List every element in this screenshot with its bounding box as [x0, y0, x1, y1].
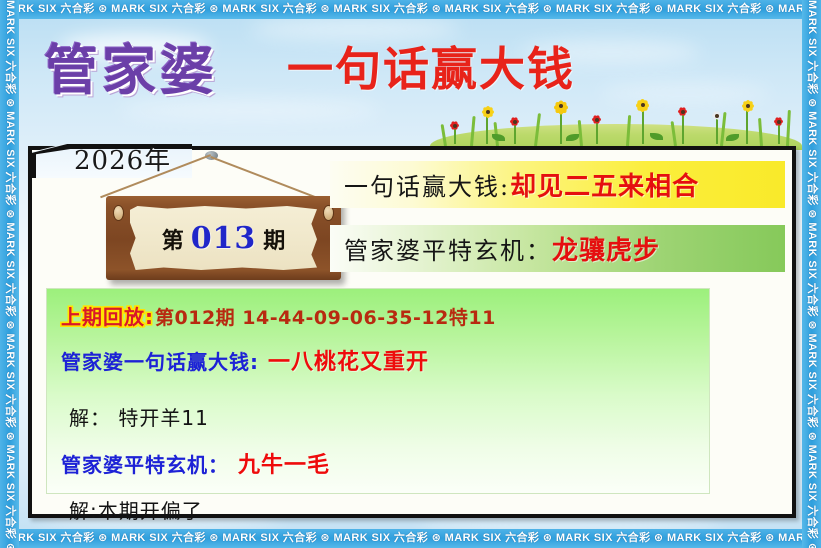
issue-prefix: 第: [162, 228, 184, 254]
explain-2-text: 解:本期开偏了: [69, 495, 203, 524]
banner-tip-secondary[interactable]: 管家婆平特玄机： 龙骧虎步: [330, 225, 785, 272]
result-row-tip: 管家婆一句话赢大钱: 一八桃花又重开: [61, 344, 709, 376]
issue-number: 第 013 期: [162, 221, 286, 256]
marquee-border-bottom: MARK SIX 六合彩 ⊛ MARK SIX 六合彩 ⊛ MARK SIX 六…: [0, 529, 821, 548]
page-title: 一句话赢大钱: [287, 33, 575, 99]
issue-suffix: 期: [263, 228, 285, 254]
banner-secondary-label: 管家婆平特玄机：: [344, 231, 552, 266]
banner-primary-label: 一句话赢大钱:: [344, 167, 510, 202]
banner-secondary-value: 龙骧虎步: [552, 230, 660, 267]
replay-value: 第012期 14-44-09-06-35-12特11: [155, 303, 496, 330]
replay-label: 上期回放:: [61, 301, 154, 330]
banner-tip-primary[interactable]: 一句话赢大钱: 却见二五来相合: [330, 161, 785, 208]
mystery-label: 管家婆平特玄机：: [61, 449, 229, 478]
issue-value: 013: [191, 221, 257, 256]
site-logo: 管家婆: [44, 26, 218, 105]
explain-1-text: 解： 特开羊11: [69, 402, 209, 431]
issue-sign-paper: 第 013 期: [130, 206, 317, 270]
year-label: 2026年: [74, 140, 171, 177]
previous-results-box: 上期回放: 第012期 14-44-09-06-35-12特11 管家婆一句话赢…: [46, 288, 710, 494]
marquee-text-right: MARK SIX 六合彩 ⊛ MARK SIX 六合彩 ⊛ MARK SIX 六…: [802, 0, 821, 548]
flower-grass-decoration: [430, 98, 802, 150]
replay-row: 上期回放: 第012期 14-44-09-06-35-12特11: [61, 301, 709, 330]
banner-primary-value: 却见二五来相合: [510, 166, 699, 203]
marquee-text-left: MARK SIX 六合彩 ⊛ MARK SIX 六合彩 ⊛ MARK SIX 六…: [0, 0, 19, 548]
result-tip-value: 一八桃花又重开: [268, 344, 429, 376]
marquee-border-left: MARK SIX 六合彩 ⊛ MARK SIX 六合彩 ⊛ MARK SIX 六…: [0, 0, 19, 548]
poster-canvas: MARK SIX 六合彩 ⊛ MARK SIX 六合彩 ⊛ MARK SIX 六…: [0, 0, 821, 548]
result-row-explain-2: 解:本期开偏了: [69, 495, 709, 524]
result-row-explain-1: 解： 特开羊11: [69, 402, 709, 431]
marquee-border-top: MARK SIX 六合彩 ⊛ MARK SIX 六合彩 ⊛ MARK SIX 六…: [0, 0, 821, 19]
result-row-mystery: 管家婆平特玄机： 九牛一毛: [61, 447, 709, 479]
issue-sign-board: 第 013 期: [106, 196, 341, 280]
marquee-border-right: MARK SIX 六合彩 ⊛ MARK SIX 六合彩 ⊛ MARK SIX 六…: [802, 0, 821, 548]
marquee-text-top: MARK SIX 六合彩 ⊛ MARK SIX 六合彩 ⊛ MARK SIX 六…: [0, 0, 821, 19]
marquee-text-bottom: MARK SIX 六合彩 ⊛ MARK SIX 六合彩 ⊛ MARK SIX 六…: [0, 529, 821, 548]
result-tip-label: 管家婆一句话赢大钱:: [61, 346, 259, 375]
mystery-value: 九牛一毛: [238, 447, 330, 479]
